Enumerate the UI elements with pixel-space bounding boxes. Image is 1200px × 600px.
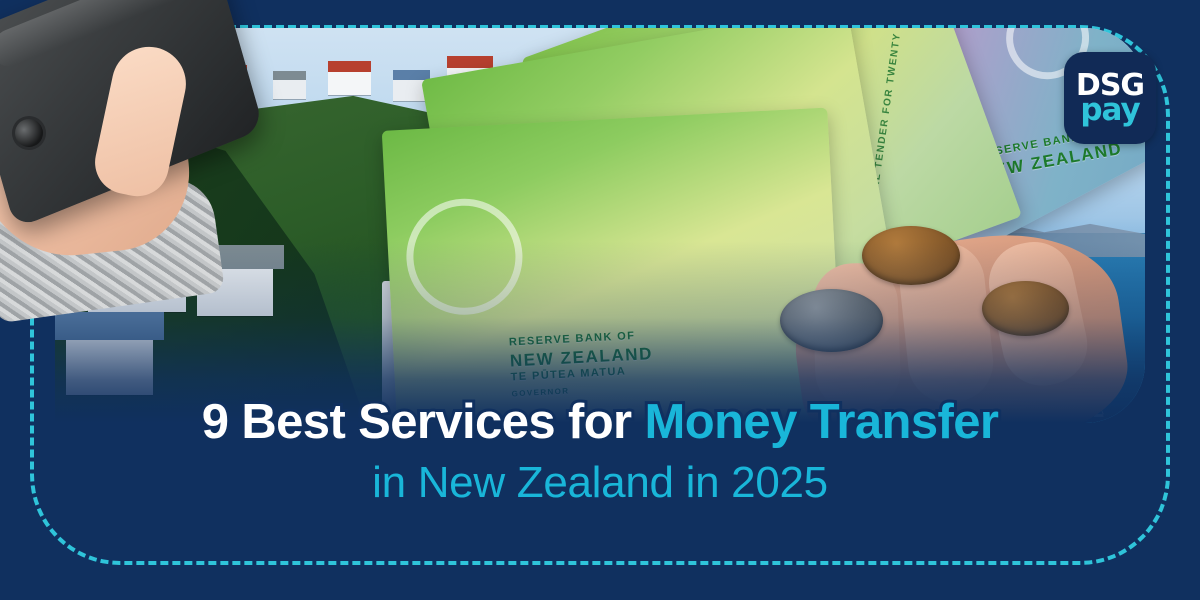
headline-line-2: in New Zealand in 2025 — [70, 460, 1130, 506]
headline-part-white: 9 Best Services for — [202, 395, 645, 449]
headline-part-accent: Money Transfer — [645, 395, 999, 449]
promo-banner: RESERVE BANK OF NEW ZEALAND LEGAL TENDER… — [0, 0, 1200, 600]
phone-in-hand-overlay — [0, 0, 272, 294]
logo-text-pay: pay — [1080, 97, 1139, 124]
headline-block: 9 Best Services for Money Transfer in Ne… — [0, 398, 1200, 506]
headline-line-1: 9 Best Services for Money Transfer — [70, 398, 1130, 448]
dsgpay-logo[interactable]: DSG pay — [1064, 52, 1156, 144]
